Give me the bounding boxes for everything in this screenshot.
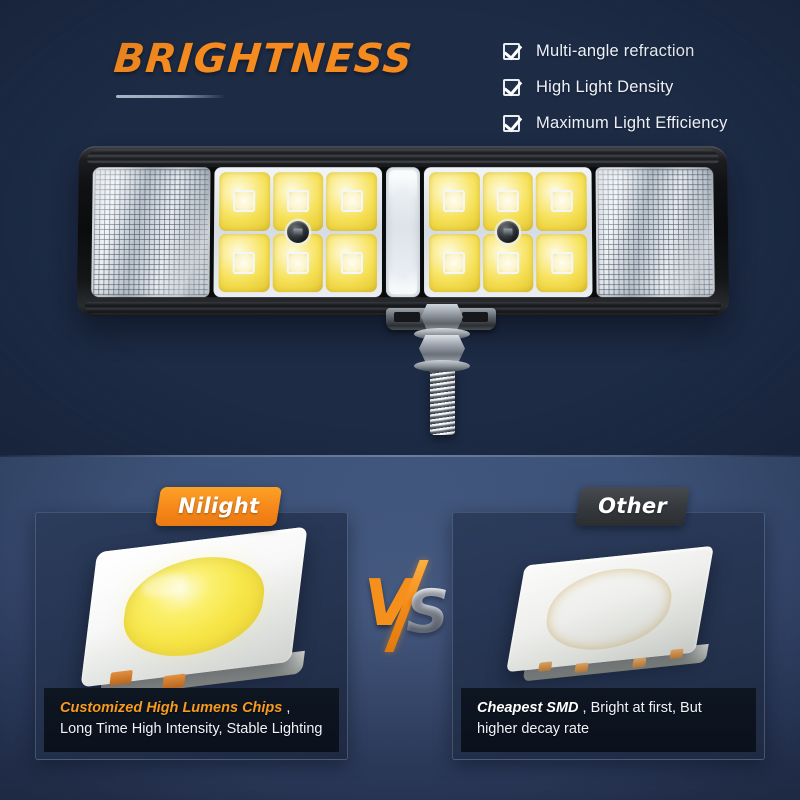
center-smd-panel [386, 167, 420, 297]
feature-label: High Light Density [536, 78, 674, 97]
feature-item-light-density: High Light Density [503, 78, 728, 97]
caption-text-other: Cheapest SMD , Bright at first, But high… [477, 698, 740, 740]
versus-mark: V S [366, 558, 452, 650]
housing-screw-icon [287, 221, 309, 243]
led-cluster-left [213, 167, 382, 297]
smd-grid [400, 176, 406, 288]
feature-item-light-efficiency: Maximum Light Efficiency [503, 114, 728, 133]
title-underline [116, 95, 226, 98]
light-bar-housing [77, 146, 729, 316]
page-title: BRIGHTNESS [112, 36, 415, 82]
led-chip [219, 233, 270, 292]
led-chip [429, 172, 480, 230]
checkbox-checked-icon [503, 115, 520, 132]
threaded-bolt [430, 369, 455, 435]
washer-lower [414, 360, 470, 372]
title-block: BRIGHTNESS [114, 36, 413, 98]
side-reflector-right [595, 167, 714, 297]
caption-text-nilight: Customized High Lumens Chips , Long Time… [60, 698, 323, 740]
hex-nut-lower [419, 335, 465, 362]
housing-screw-icon [497, 221, 519, 243]
led-cluster-right [424, 167, 593, 297]
chip-stage-other [453, 513, 764, 691]
feature-label: Multi-angle refraction [536, 42, 694, 61]
led-chip [536, 233, 587, 292]
chip-stage-nilight [36, 513, 347, 691]
comparison-card-nilight: Customized High Lumens Chips , Long Time… [35, 512, 348, 760]
caption-lead-nilight: Customized High Lumens Chips [60, 700, 282, 716]
led-chip [219, 172, 270, 230]
badge-other-label: Other [598, 494, 667, 518]
led-chip [536, 172, 587, 230]
product-infographic: BRIGHTNESS Multi-angle refraction High L… [0, 0, 800, 800]
caption-band-other: Cheapest SMD , Bright at first, But high… [461, 688, 756, 752]
feature-label: Maximum Light Efficiency [536, 114, 728, 133]
caption-lead-other: Cheapest SMD [477, 700, 579, 716]
checkbox-checked-icon [503, 43, 520, 60]
hex-nut-upper [421, 304, 463, 330]
caption-band-nilight: Customized High Lumens Chips , Long Time… [44, 688, 339, 752]
nilight-led-chip-image [81, 529, 308, 686]
feature-item-multi-angle: Multi-angle refraction [503, 42, 728, 61]
led-chip [326, 233, 377, 292]
badge-nilight: Nilight [155, 487, 282, 526]
comparison-card-other: Cheapest SMD , Bright at first, But high… [452, 512, 765, 760]
checkbox-checked-icon [503, 79, 520, 96]
side-reflector-left [91, 167, 210, 297]
versus-s-letter: S [406, 582, 449, 642]
led-chip [429, 233, 480, 292]
other-led-chip-image [510, 547, 710, 670]
feature-list: Multi-angle refraction High Light Densit… [503, 42, 728, 150]
badge-other: Other [575, 487, 690, 526]
led-chip [326, 172, 377, 230]
housing-top-rail [87, 149, 719, 163]
lens-area [91, 167, 715, 297]
brightness-section: BRIGHTNESS Multi-angle refraction High L… [0, 0, 800, 456]
led-light-bar-product-image [78, 146, 728, 346]
badge-nilight-label: Nilight [178, 494, 259, 518]
